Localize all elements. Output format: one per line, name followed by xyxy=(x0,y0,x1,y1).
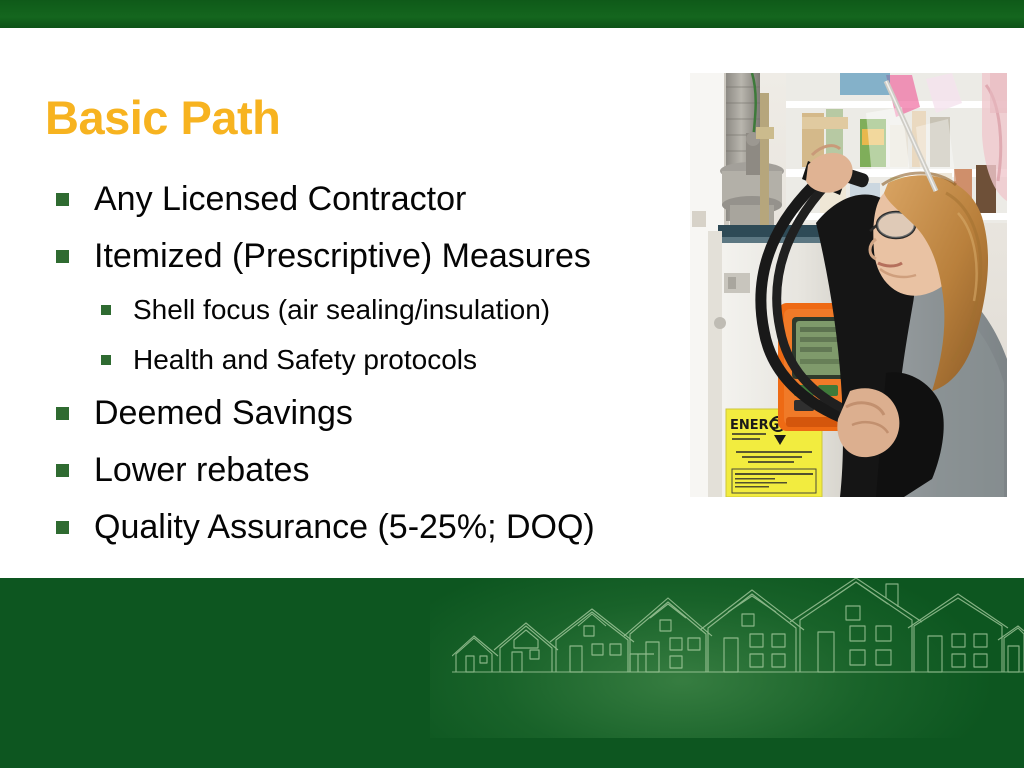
sub-list-item: Health and Safety protocols xyxy=(56,341,696,391)
list-item: Quality Assurance (5-25%; DOQ) xyxy=(56,505,696,562)
bullet-square-icon xyxy=(101,355,111,365)
bullet-square-icon xyxy=(56,521,69,534)
top-banner xyxy=(0,0,1024,28)
bullet-square-icon xyxy=(56,250,69,263)
bullet-square-icon xyxy=(101,305,111,315)
sub-list-item: Shell focus (air sealing/insulation) xyxy=(56,291,696,341)
list-item: Lower rebates xyxy=(56,448,696,505)
auditor-photo: ENERG GUIDE xyxy=(690,73,1007,497)
list-item-label: Lower rebates xyxy=(94,448,309,492)
bullet-square-icon xyxy=(56,464,69,477)
houses-illustration-icon xyxy=(452,578,1024,696)
list-item: Any Licensed Contractor xyxy=(56,177,696,234)
page-title: Basic Path xyxy=(45,93,280,142)
bullet-list: Any Licensed Contractor Itemized (Prescr… xyxy=(56,177,696,562)
slide-canvas: Basic Path Any Licensed Contractor Itemi… xyxy=(0,0,1024,768)
sub-list-item-label: Shell focus (air sealing/insulation) xyxy=(133,291,550,329)
list-item: Deemed Savings xyxy=(56,391,696,448)
list-item-label: Deemed Savings xyxy=(94,391,353,435)
list-item-label: Itemized (Prescriptive) Measures xyxy=(94,234,591,278)
list-item-label: Any Licensed Contractor xyxy=(94,177,466,221)
sub-list-item-label: Health and Safety protocols xyxy=(133,341,477,379)
list-item: Itemized (Prescriptive) Measures xyxy=(56,234,696,291)
list-item-label: Quality Assurance (5-25%; DOQ) xyxy=(94,505,595,549)
footer-banner: BUILDING PERFORMANCE INSTITUTE, INC. xyxy=(0,578,1024,768)
bullet-square-icon xyxy=(56,193,69,206)
bullet-square-icon xyxy=(56,407,69,420)
